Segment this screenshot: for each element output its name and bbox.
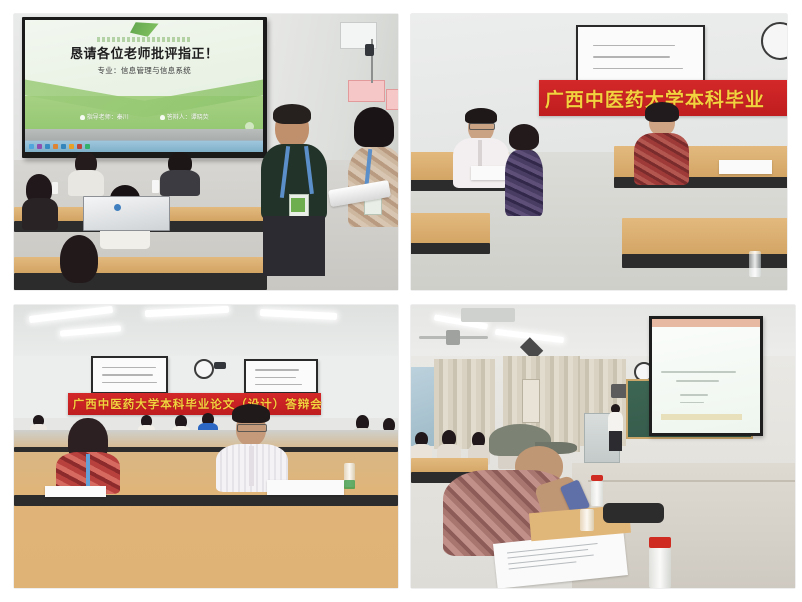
water-bottle-1 [52,182,58,194]
calligraphy-line-1 [593,45,675,47]
laptop-screen [83,196,169,231]
photo-panel-top-right: 广西中医药大学本科毕业 [411,14,787,290]
red-banner-wide: 广西中医药大学本科毕业论文（设计）答辩会 [68,393,321,416]
screen-text-line-4 [680,402,704,404]
calligraphy-line-2 [593,56,670,58]
glasses-icon [469,123,495,130]
wall-notice-1 [348,80,385,101]
panel4-bottle-3 [580,509,594,531]
photo-panel-bottom-left: 广西中医药大学本科毕业论文（设计）答辩会 [14,305,398,588]
projection-screen: 恳请各位老师批评指正！ 专业：信息管理与信息系统 指导老师：秦川 答辩人：谭晓荧 [22,17,268,158]
screen-text-line-2 [676,380,719,382]
framed-left-line-3 [102,382,157,384]
university-logo-subtext [97,37,192,42]
taskbar-icon-7 [77,144,82,149]
slide-subtitle: 专业：信息管理与信息系统 [25,65,263,76]
panel4-bottle-1 [591,480,603,506]
member2-hair [509,124,539,150]
presenter-trousers [609,431,622,451]
wall-notice-2 [386,89,398,110]
security-camera-icon [214,362,226,369]
water-bottle [749,251,761,277]
wall-chart [522,379,539,423]
man-placket [249,446,254,486]
framed-board-left [91,356,168,394]
slide-presenter: 答辩人：谭晓荧 [160,112,209,121]
panel4-bottle-cap-2 [649,537,671,548]
member1-hair [465,108,497,124]
member3-papers [719,160,772,174]
slide-advisor: 指导老师：秦川 [80,112,129,121]
audience-desk-row-2 [14,257,267,274]
calligraphy-line-3 [593,68,682,70]
photo-panel-bottom-right [411,305,795,588]
taskbar-icon-5 [61,144,66,149]
ceiling-fan-icon [419,330,488,344]
screen-footer-band [661,414,743,420]
wall-device [365,44,374,56]
man-hair [232,404,270,423]
projection-screen-panel4 [649,316,763,435]
photo-collage: 恳请各位老师批评指正！ 专业：信息管理与信息系统 指导老师：秦川 答辩人：谭晓荧 [0,0,802,602]
audience-desk-edge-2 [14,273,267,290]
framed-right-line-3 [255,384,302,386]
person-icon [160,115,165,120]
panel4-scene [411,305,795,588]
desk-left-2-edge [411,243,490,254]
woman-lanyard-blue [86,454,90,486]
screen-text-line-1 [661,371,736,373]
slide-meta-row: 指导老师：秦川 答辩人：谭晓荧 [25,112,263,121]
taskbar-icon-2 [37,144,42,149]
man-glasses-icon [237,424,267,432]
photo-panel-top-left: 恳请各位老师批评指正！ 专业：信息管理与信息系统 指导老师：秦川 答辩人：谭晓荧 [14,14,398,290]
taskbar-icon-4 [53,144,58,149]
screen-taskbar [25,141,263,152]
projection-screen-content: 恳请各位老师批评指正！ 专业：信息管理与信息系统 指导老师：秦川 答辩人：谭晓荧 [25,20,263,152]
id-badge-label [291,198,305,212]
taskbar-icon-1 [29,144,34,149]
desk-right-2 [622,218,787,257]
desk-right-2-edge [622,254,787,268]
framed-board-right [244,359,317,394]
desk-left-2 [411,213,490,246]
standing-man-trousers [263,216,325,276]
taskbar-icon-6 [69,144,74,149]
standing-woman-hair [354,107,394,147]
framed-right-line-1 [255,369,299,371]
banner-wide-text: 广西中医药大学本科毕业论文（设计）答辩会 [68,396,323,412]
framed-left-line-1 [102,367,156,369]
floor-line [588,480,795,482]
ceiling-projector [461,308,515,322]
slide-title: 恳请各位老师批评指正！ [25,43,263,62]
taskbar-icon-3 [45,144,50,149]
person-icon [80,115,85,120]
panel3-bottle-label [344,480,355,489]
panel4-bottle-2 [649,548,671,588]
water-bottle-2 [152,180,159,193]
framed-left-line-2 [102,374,153,376]
framed-right-line-2 [255,377,296,379]
desk-rail [603,503,664,523]
standing-man-hair [273,104,311,124]
panel3-scene: 广西中医药大学本科毕业论文（设计）答辩会 [14,305,398,588]
member3-hair [645,102,679,122]
panel4-bottle-cap-1 [591,475,603,481]
panel2-scene: 广西中医药大学本科毕业 [411,14,787,290]
judge-woman-papers [45,486,106,497]
panel1-scene: 恳请各位老师批评指正！ 专业：信息管理与信息系统 指导老师：秦川 答辩人：谭晓荧 [14,14,398,290]
screen-header-band [652,319,760,327]
screen-text-line-3 [680,394,708,396]
judge-man-papers [267,480,344,494]
taskbar-icon-8 [85,144,90,149]
